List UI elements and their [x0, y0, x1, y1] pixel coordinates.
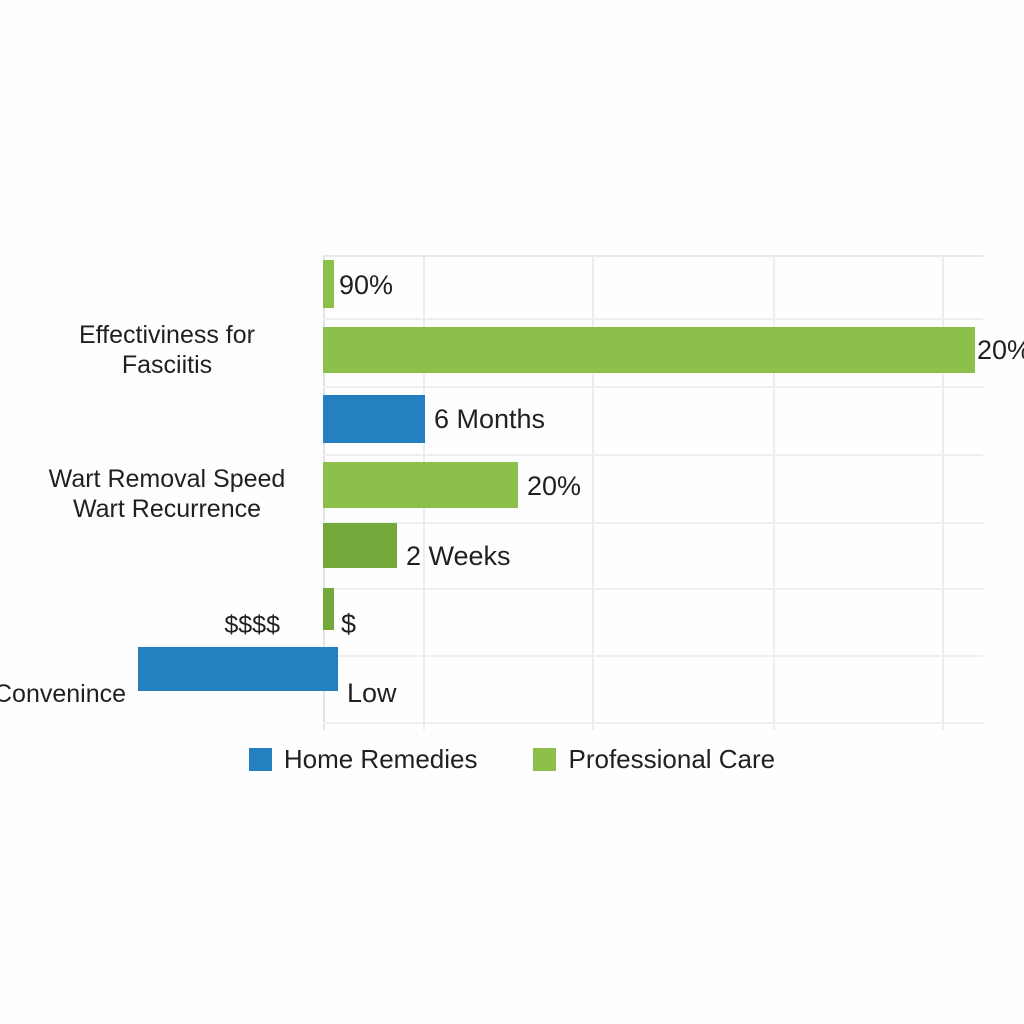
legend-item-professional-care[interactable]: Professional Care — [533, 746, 775, 772]
bar-home-wart-removal-speed[interactable] — [323, 395, 425, 443]
value-label-wart-recurrence: 20% — [527, 473, 581, 500]
bar-professional-effectiveness[interactable] — [323, 260, 334, 308]
value-label-effectiveness: 90% — [339, 272, 393, 299]
bar-professional-cost[interactable] — [323, 588, 334, 630]
category-label-effectiveness-fasciitis: Effectiviness for Fasciitis — [20, 320, 314, 380]
bar-home-convenience[interactable] — [138, 647, 338, 691]
plot-top-border — [323, 255, 983, 257]
legend-swatch-home-remedies-icon — [249, 748, 272, 771]
legend-label-professional-care: Professional Care — [568, 746, 775, 772]
category-label-convenience: Convenince — [0, 679, 144, 709]
chart-figure: 90% 20% 6 Months 20% 2 Weeks $ Low Effec… — [0, 0, 1024, 1024]
value-label-two-weeks: 2 Weeks — [406, 543, 511, 570]
legend-swatch-professional-care-icon — [533, 748, 556, 771]
gridline-horizontal-1 — [323, 318, 983, 320]
bar-professional-fasciitis[interactable] — [323, 327, 975, 373]
category-label-cost: $$$$ — [20, 610, 280, 640]
legend-item-home-remedies[interactable]: Home Remedies — [249, 746, 478, 772]
legend-label-home-remedies: Home Remedies — [284, 746, 478, 772]
value-label-cost: $ — [341, 611, 356, 638]
bar-professional-two-weeks[interactable] — [323, 523, 397, 568]
gridline-horizontal-2 — [323, 386, 983, 388]
category-label-wart-removal-recurrence: Wart Removal Speed Wart Recurrence — [20, 464, 314, 524]
gridline-horizontal-5 — [323, 588, 983, 590]
value-label-wart-removal-speed: 6 Months — [434, 406, 545, 433]
chart-legend: Home Remedies Professional Care — [0, 746, 1024, 772]
gridline-horizontal-7 — [323, 722, 983, 724]
gridline-horizontal-3 — [323, 454, 983, 456]
value-label-convenience: Low — [347, 680, 397, 707]
value-label-fasciitis: 20% — [977, 337, 1024, 364]
gridline-horizontal-4 — [323, 522, 983, 524]
gridline-horizontal-6 — [323, 655, 983, 657]
bar-professional-wart-recurrence[interactable] — [323, 462, 518, 508]
